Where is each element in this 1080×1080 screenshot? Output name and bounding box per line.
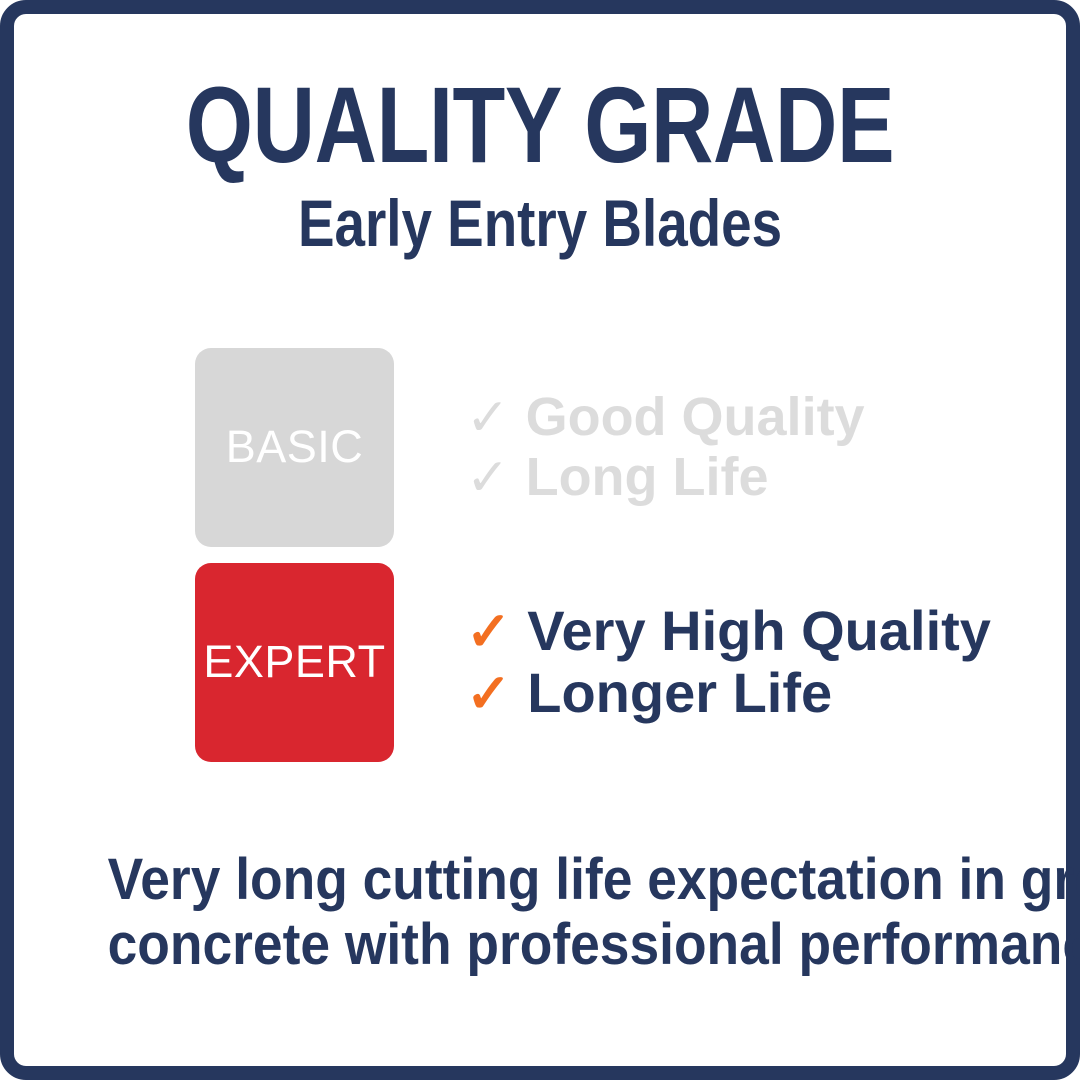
feature-item: ✓ Good Quality (466, 387, 865, 447)
tier-badge-expert[interactable]: EXPERT (195, 563, 394, 762)
tier-row-basic: BASIC ✓ Good Quality ✓ Long Life (195, 348, 1066, 547)
tier-badge-expert-label: EXPERT (203, 636, 385, 688)
tier-badge-basic[interactable]: BASIC (195, 348, 394, 547)
caption-line-2: concrete with professional performance (108, 913, 973, 978)
feature-label: Long Life (526, 447, 769, 507)
quality-grade-card: QUALITY GRADE Early Entry Blades BASIC ✓… (0, 0, 1080, 1080)
check-icon: ✓ (466, 605, 511, 659)
feature-list-expert: ✓ Very High Quality ✓ Longer Life (394, 600, 991, 725)
feature-label: Longer Life (527, 662, 832, 725)
page-title: QUALITY GRADE (119, 72, 961, 178)
check-icon: ✓ (466, 392, 510, 444)
check-icon: ✓ (466, 452, 510, 504)
tier-badge-basic-label: BASIC (226, 421, 364, 473)
card-header: QUALITY GRADE Early Entry Blades (14, 72, 1066, 256)
feature-item: ✓ Long Life (466, 447, 865, 507)
feature-label: Very High Quality (527, 600, 991, 663)
check-icon: ✓ (466, 667, 511, 721)
feature-item: ✓ Very High Quality (466, 600, 991, 663)
page-subtitle: Early Entry Blades (103, 190, 976, 256)
tier-comparison-list: BASIC ✓ Good Quality ✓ Long Life EXPERT (14, 348, 1066, 762)
feature-list-basic: ✓ Good Quality ✓ Long Life (394, 387, 865, 508)
feature-label: Good Quality (526, 387, 865, 447)
caption-line-1: Very long cutting life expectation in gr… (108, 848, 973, 913)
card-caption: Very long cutting life expectation in gr… (108, 848, 973, 978)
feature-item: ✓ Longer Life (466, 662, 991, 725)
tier-row-expert: EXPERT ✓ Very High Quality ✓ Longer Life (195, 563, 1066, 762)
